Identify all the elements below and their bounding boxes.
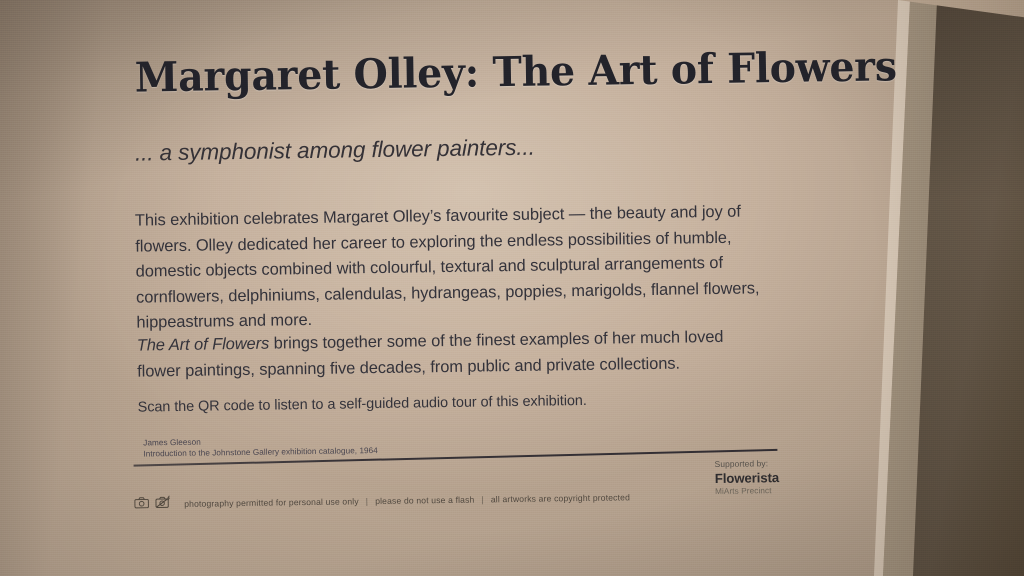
- exhibition-title: Margaret Olley: The Art of Flowers: [134, 42, 897, 101]
- camera-icon: [134, 495, 149, 513]
- no-flash-camera-icon: [155, 495, 172, 513]
- exhibition-subtitle: ... a symphonist among flower painters..…: [135, 135, 535, 167]
- notice-item-copyright: all artworks are copyright protected: [491, 492, 630, 504]
- about-paragraph-title: The Art of Flowers: [137, 335, 270, 355]
- about-paragraph: The Art of Flowers brings together some …: [137, 324, 768, 384]
- exhibition-wall-scene: Margaret Olley: The Art of Flowers ... a…: [0, 0, 1024, 576]
- photography-icon-group: [134, 495, 172, 514]
- supporter-name: Flowerista: [715, 471, 779, 486]
- quote-credit: James Gleeson Introduction to the Johnst…: [143, 434, 378, 460]
- intro-paragraph: This exhibition celebrates Margaret Olle…: [135, 199, 767, 336]
- photography-notice: photography permitted for personal use o…: [134, 488, 630, 513]
- supporter-sublabel: MiArts Precinct: [715, 486, 779, 496]
- supporter-block: Supported by: Flowerista MiArts Precinct: [715, 458, 780, 496]
- notice-item-no-flash: please do not use a flash: [375, 495, 474, 506]
- notice-item-personal-use: photography permitted for personal use o…: [184, 496, 359, 509]
- wall-text-panel: Margaret Olley: The Art of Flowers ... a…: [0, 0, 1024, 576]
- qr-note-paragraph: Scan the QR code to listen to a self-gui…: [138, 388, 768, 418]
- credit-source: Introduction to the Johnstone Gallery ex…: [143, 445, 378, 460]
- supporter-label: Supported by:: [715, 458, 779, 469]
- notice-separator: |: [359, 496, 376, 506]
- photography-notice-text: photography permitted for personal use o…: [184, 492, 630, 509]
- notice-separator: |: [474, 494, 491, 504]
